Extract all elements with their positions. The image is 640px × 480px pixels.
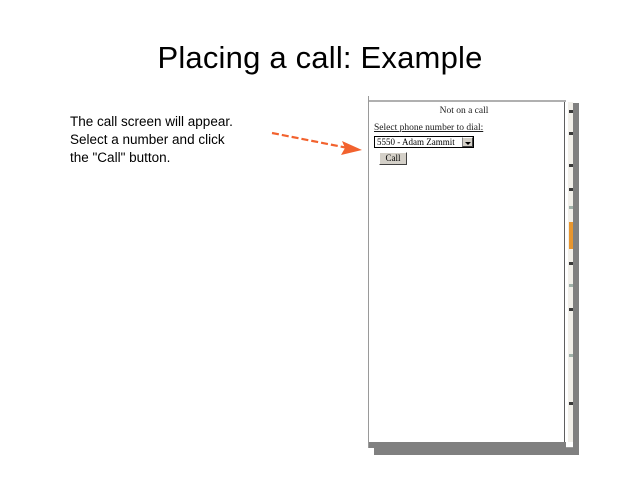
body-line-3: the "Call" button. [70,149,270,167]
annotation-arrow [262,124,368,162]
embedded-browser-window: Not on a call Select phone number to dia… [368,96,573,448]
scrollbar-mark [569,402,573,405]
embedded-page-content: Not on a call Select phone number to dia… [369,102,565,448]
phone-number-select[interactable]: 5550 - Adam Zammit [374,136,474,148]
scrollbar-mark [569,188,573,191]
body-line-2: Select a number and click [70,131,270,149]
call-status-text: Not on a call [369,106,559,116]
body-line-1: The call screen will appear. [70,113,270,131]
scrollbar-mark [569,206,573,209]
scrollbar-mark [569,284,573,287]
scrollbar-mark [569,164,573,167]
page-title: Placing a call: Example [0,40,640,76]
scrollbar-mark [569,262,573,265]
scrollbar-mark [569,110,573,113]
scrollbar-thumb[interactable] [569,222,573,249]
slide-body-text: The call screen will appear. Select a nu… [70,113,270,167]
scrollbar-mark [569,308,573,311]
select-dropdown-button[interactable] [462,137,473,147]
embedded-status-bar [369,442,566,448]
arrow-icon [262,124,368,162]
scrollbar-mark [569,354,573,357]
call-button[interactable]: Call [379,152,407,165]
vertical-scrollbar[interactable] [567,102,573,442]
dial-number-label: Select phone number to dial: [374,123,483,133]
scrollbar-mark [569,132,573,135]
phone-number-select-value: 5550 - Adam Zammit [377,137,455,148]
chevron-down-icon [465,142,471,145]
